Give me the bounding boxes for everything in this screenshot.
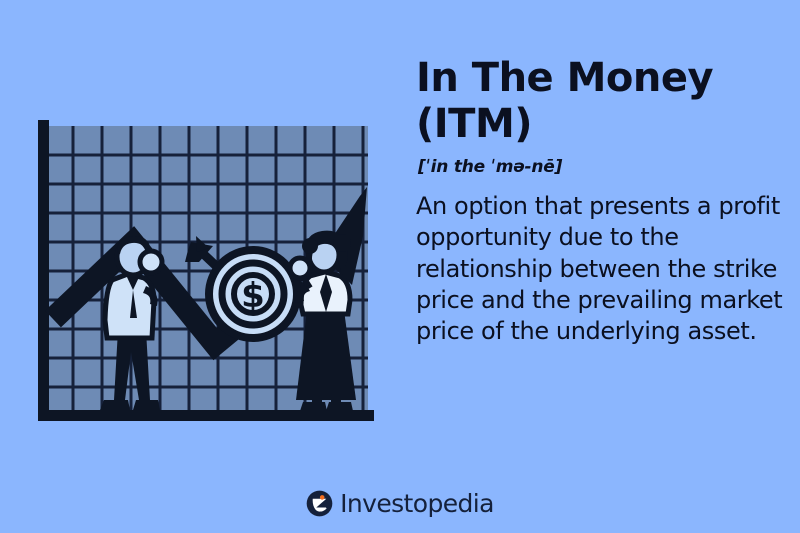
dartboard-with-dollar-sign: $ [209,250,297,338]
definition-text: An option that presents a profit opportu… [416,191,788,347]
dollar-sign-icon: $ [241,276,265,316]
investopedia-wordmark: Investopedia [340,491,494,516]
page-title: In The Money (ITM) [416,56,788,147]
pronunciation-text: [ˈin the ˈmə-nē] [418,157,788,177]
investopedia-logo-icon [306,490,333,517]
text-column: In The Money (ITM) [ˈin the ˈmə-nē] An o… [416,56,788,347]
y-axis [38,120,49,421]
investopedia-logo: Investopedia [0,490,800,517]
illustration: $ [0,0,400,470]
definition-card: $ [0,0,800,533]
magnifier-icon [290,258,310,278]
x-axis [38,410,374,421]
